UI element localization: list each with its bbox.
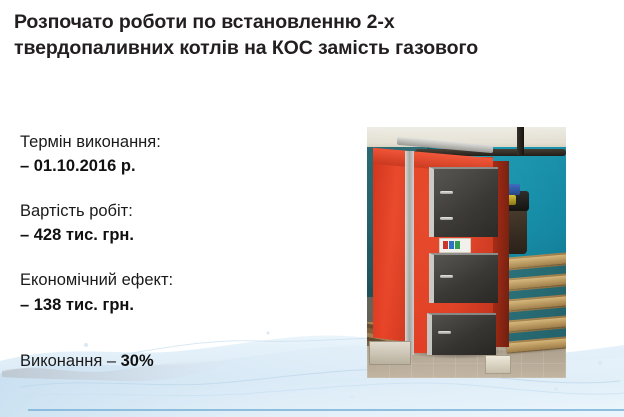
fact-effect-value: – 138 тис. грн. [20, 294, 350, 316]
title-line-1: Розпочато роботи по встановленню 2-х [14, 10, 594, 36]
fact-effect: Економічний ефект: – 138 тис. грн. [20, 269, 350, 315]
fact-deadline: Термін виконання: – 01.10.2016 р. [20, 131, 350, 177]
fact-effect-label: Економічний ефект: [20, 269, 350, 291]
fact-deadline-value: – 01.10.2016 р. [20, 155, 350, 177]
fact-progress-label: Виконання – [20, 352, 121, 370]
fact-cost: Вартість робіт: – 428 тис. грн. [20, 200, 350, 246]
title-line-2: твердопаливних котлів на КОС замість газ… [14, 36, 594, 62]
photo-lighting-overlay [367, 127, 566, 378]
fact-deadline-label: Термін виконання: [20, 131, 350, 153]
fact-cost-label: Вартість робіт: [20, 200, 350, 222]
fact-cost-value: – 428 тис. грн. [20, 224, 350, 246]
boiler-photo [367, 127, 566, 378]
fact-progress: Виконання – 30% [20, 350, 350, 372]
bottom-accent-line [28, 409, 624, 411]
page-title: Розпочато роботи по встановленню 2-х тве… [14, 10, 594, 61]
facts-list: Термін виконання: – 01.10.2016 р. Вартіс… [20, 131, 350, 372]
slide-root: Розпочато роботи по встановленню 2-х тве… [0, 0, 624, 417]
fact-progress-value: 30% [121, 352, 154, 370]
